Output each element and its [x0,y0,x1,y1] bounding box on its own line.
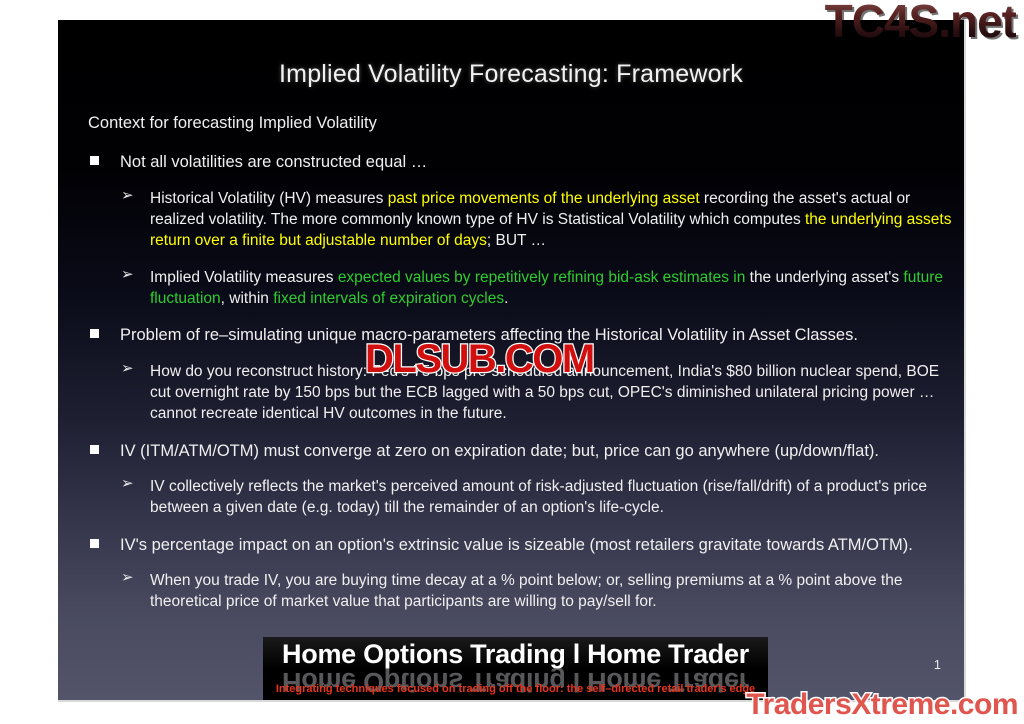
watermark-dlsub: DLSUB.COM [365,337,594,382]
bullet-text: Historical Volatility (HV) measures past… [150,190,951,250]
bullet-item: IV (ITM/ATM/OTM) must converge at zero o… [88,440,958,462]
text-run: fixed intervals of expiration cycles [273,290,504,307]
text-run: Context for forecasting Implied Volatili… [88,114,377,132]
square-bullet-icon [90,539,99,548]
arrow-bullet-icon: ➢ [121,265,134,286]
page-number: 1 [934,657,941,672]
square-bullet-icon [90,445,99,454]
bullet-item: ➢When you trade IV, you are buying time … [88,570,958,613]
bullet-item: IV's percentage impact on an option's ex… [88,534,958,556]
bullet-text: IV's percentage impact on an option's ex… [120,536,913,554]
text-run: expected values by repetitively refining… [338,269,746,286]
arrow-bullet-icon: ➢ [121,359,134,380]
text-run: ; BUT … [487,232,546,249]
text-run: When you trade IV, you are buying time d… [150,572,902,610]
bullet-text: Not all volatilities are constructed equ… [120,153,427,171]
slide-title: Implied Volatility Forecasting: Framewor… [58,60,964,89]
text-run: the underlying asset's [745,269,903,286]
bullet-item: ➢IV collectively reflects the market's p… [88,476,958,519]
text-run: Historical Volatility (HV) measures [150,190,388,207]
watermark-tc4s: TC4S.net [825,0,1016,48]
arrow-bullet-icon: ➢ [121,568,134,589]
banner-tagline: Integrating techniques focused on tradin… [263,683,768,695]
text-run: Not all volatilities are constructed equ… [120,153,427,171]
bullet-text: When you trade IV, you are buying time d… [150,572,902,610]
square-bullet-icon [90,156,99,165]
bullet-item: ➢Implied Volatility measures expected va… [88,267,958,310]
text-run: . [504,290,508,307]
bottom-banner: Home Options Trading l Home Trader Home … [263,637,768,701]
watermark-tradersxtreme: TradersXtreme.com [746,688,1018,722]
bullet-text: Context for forecasting Implied Volatili… [88,114,377,132]
bullet-text: Implied Volatility measures expected val… [150,269,943,307]
bullet-text: IV (ITM/ATM/OTM) must converge at zero o… [120,442,879,460]
text-run: IV's percentage impact on an option's ex… [120,536,913,554]
text-run: IV (ITM/ATM/OTM) must converge at zero o… [120,442,879,460]
arrow-bullet-icon: ➢ [121,474,134,495]
bullet-item: ➢Historical Volatility (HV) measures pas… [88,188,958,252]
arrow-bullet-icon: ➢ [121,186,134,207]
bullet-text: IV collectively reflects the market's pe… [150,478,927,516]
bullet-item: Not all volatilities are constructed equ… [88,151,958,173]
text-run: IV collectively reflects the market's pe… [150,478,927,516]
text-run: Implied Volatility measures [150,269,338,286]
square-bullet-icon [90,329,99,338]
text-run: past price movements of the underlying a… [388,190,700,207]
paragraph: Context for forecasting Implied Volatili… [88,112,958,134]
text-run: , within [221,290,274,307]
